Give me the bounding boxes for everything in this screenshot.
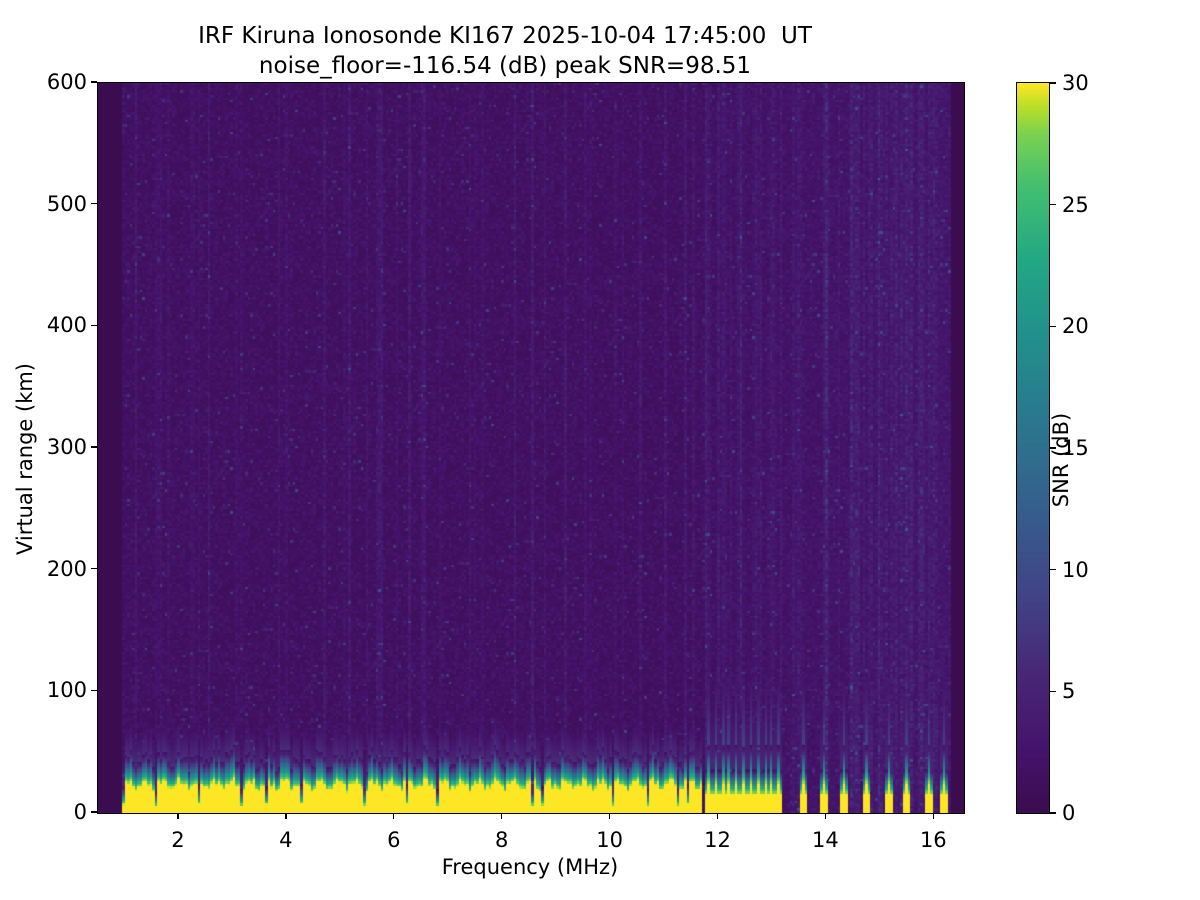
colorbar-tick-label-25: 25 [1062,193,1089,217]
x-axis-tick-mark-8 [501,813,502,819]
y-axis-label: Virtual range (km) [13,159,37,759]
colorbar-tick-label-10: 10 [1062,558,1089,582]
title-line-primary: IRF Kiruna Ionosonde KI167 2025-10-04 17… [0,22,1010,52]
colorbar-tick-mark-15 [1050,447,1056,448]
x-axis-tick-mark-6 [393,813,394,819]
y-axis-tick-mark-300 [91,446,97,447]
y-axis-tick-mark-600 [91,81,97,82]
x-axis-tick-label-6: 6 [334,828,454,852]
colorbar-tick-label-30: 30 [1062,71,1089,95]
x-axis-tick-mark-16 [933,813,934,819]
figure-title: IRF Kiruna Ionosonde KI167 2025-10-04 17… [0,22,1010,82]
colorbar[interactable]: SNR (dB) 051015202530 [1016,82,1050,814]
colorbar-tick-mark-10 [1050,569,1056,570]
colorbar-tick-label-5: 5 [1062,679,1075,703]
x-axis-tick-label-8: 8 [442,828,562,852]
title-line-secondary: noise_floor=-116.54 (dB) peak SNR=98.51 [0,52,1010,82]
x-axis-tick-label-4: 4 [226,828,346,852]
colorbar-tick-label-15: 15 [1062,436,1089,460]
x-axis-tick-label-14: 14 [765,828,885,852]
y-axis-tick-label-300: 300 [0,435,87,459]
x-axis-tick-mark-14 [825,813,826,819]
x-axis-tick-label-10: 10 [550,828,670,852]
colorbar-tick-mark-20 [1050,326,1056,327]
x-axis-tick-mark-10 [609,813,610,819]
y-axis-tick-mark-400 [91,325,97,326]
y-axis-tick-label-100: 100 [0,678,87,702]
y-axis-tick-mark-0 [91,811,97,812]
ionogram-figure: IRF Kiruna Ionosonde KI167 2025-10-04 17… [0,0,1200,900]
y-axis-tick-label-400: 400 [0,313,87,337]
colorbar-tick-mark-0 [1050,812,1056,813]
y-axis-tick-label-600: 600 [0,70,87,94]
colorbar-tick-label-0: 0 [1062,801,1075,825]
colorbar-tick-mark-5 [1050,691,1056,692]
colorbar-tick-label-20: 20 [1062,314,1089,338]
y-axis-tick-label-0: 0 [0,800,87,824]
y-axis-tick-mark-200 [91,568,97,569]
colorbar-label: SNR (dB) [1049,210,1073,710]
y-axis-tick-label-200: 200 [0,557,87,581]
x-axis-label: Frequency (MHz) [97,855,963,879]
ionogram-plot-area[interactable] [97,82,965,814]
x-axis-tick-label-12: 12 [657,828,777,852]
y-axis-tick-label-500: 500 [0,192,87,216]
x-axis-tick-label-16: 16 [873,828,993,852]
y-axis-tick-mark-100 [91,690,97,691]
colorbar-tick-mark-30 [1050,82,1056,83]
x-axis-tick-mark-12 [717,813,718,819]
colorbar-tick-mark-25 [1050,204,1056,205]
x-axis-tick-mark-2 [177,813,178,819]
x-axis-tick-mark-4 [285,813,286,819]
colorbar-gradient [1017,83,1049,813]
ionogram-heatmap[interactable] [98,83,964,813]
x-axis-tick-label-2: 2 [118,828,238,852]
y-axis-tick-mark-500 [91,203,97,204]
